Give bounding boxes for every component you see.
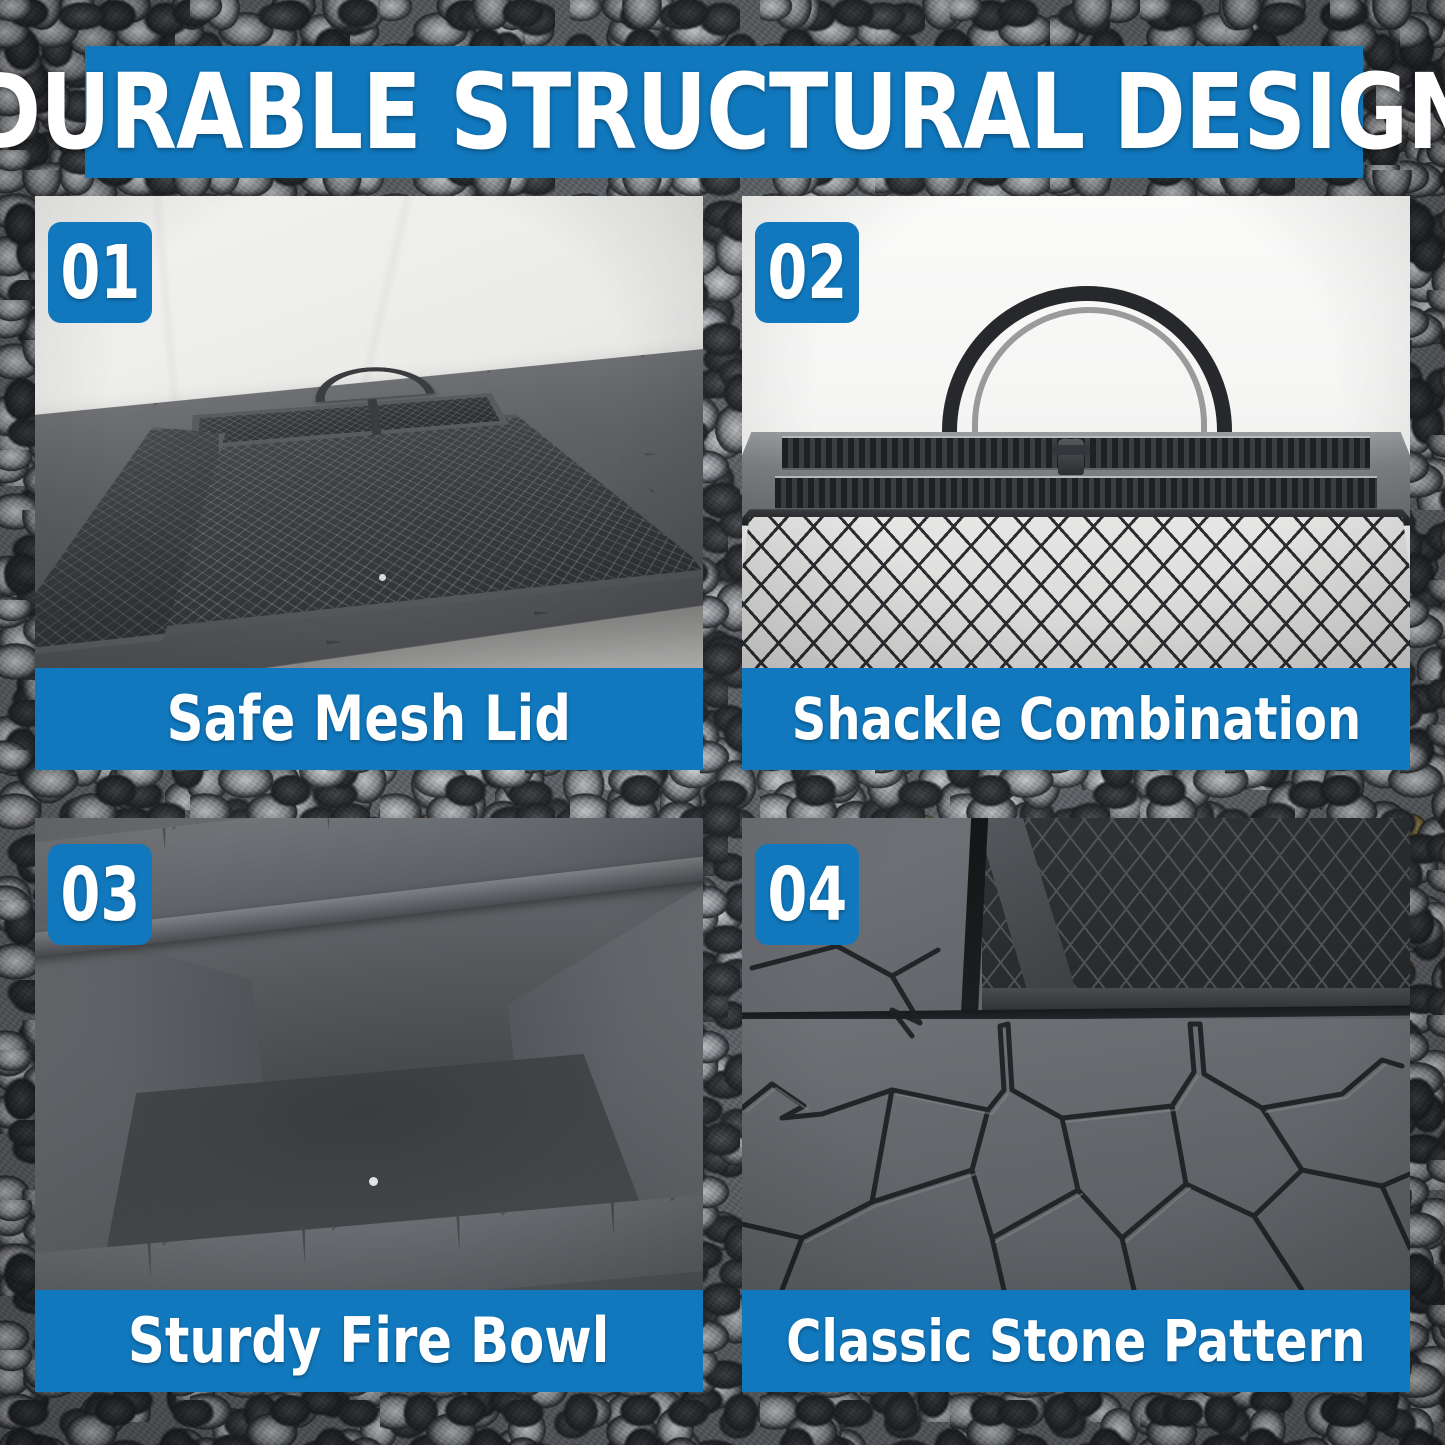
panel-1-number-badge: 01 (48, 222, 152, 323)
lid-vent-strip-lower (775, 476, 1376, 510)
feature-panel-3: 03 Sturdy Fire Bowl (35, 818, 703, 1392)
title-banner: DURABLE STRUCTURAL DESIGN (85, 46, 1363, 178)
panel-3-number-label: 03 (60, 858, 140, 932)
feature-panel-4: 04 Classic Stone Pattern (742, 818, 1410, 1392)
panel-4-number-label: 04 (767, 858, 847, 932)
panel-1-caption-label: Safe Mesh Lid (167, 688, 571, 750)
photo-highlight-speck (369, 1177, 378, 1186)
panel-4-caption-label: Classic Stone Pattern (786, 1312, 1365, 1370)
panel-2-caption-label: Shackle Combination (791, 690, 1360, 748)
panel-3-number-badge: 03 (48, 844, 152, 945)
feature-panel-grid: 01 Safe Mesh Lid 0 (35, 196, 1410, 1392)
infographic-canvas: DURABLE STRUCTURAL DESIGN 01 (0, 0, 1445, 1445)
panel-2-number-badge: 02 (755, 222, 859, 323)
panel-2-number-label: 02 (767, 236, 847, 310)
feature-panel-2: 02 Shackle Combination (742, 196, 1410, 770)
panel-4-number-badge: 04 (755, 844, 859, 945)
page-title: DURABLE STRUCTURAL DESIGN (0, 60, 1445, 164)
feature-panel-1: 01 Safe Mesh Lid (35, 196, 703, 770)
panel-4-caption-bar: Classic Stone Pattern (742, 1290, 1410, 1392)
panel-3-caption-bar: Sturdy Fire Bowl (35, 1290, 703, 1392)
diamond-mesh-screen (742, 517, 1410, 668)
panel-3-caption-label: Sturdy Fire Bowl (128, 1310, 609, 1372)
panel-1-caption-bar: Safe Mesh Lid (35, 668, 703, 770)
panel-1-number-label: 01 (60, 236, 140, 310)
photo-highlight-speck (379, 574, 386, 581)
shackle-mounting-bolt (1058, 439, 1084, 475)
panel-2-caption-bar: Shackle Combination (742, 668, 1410, 770)
